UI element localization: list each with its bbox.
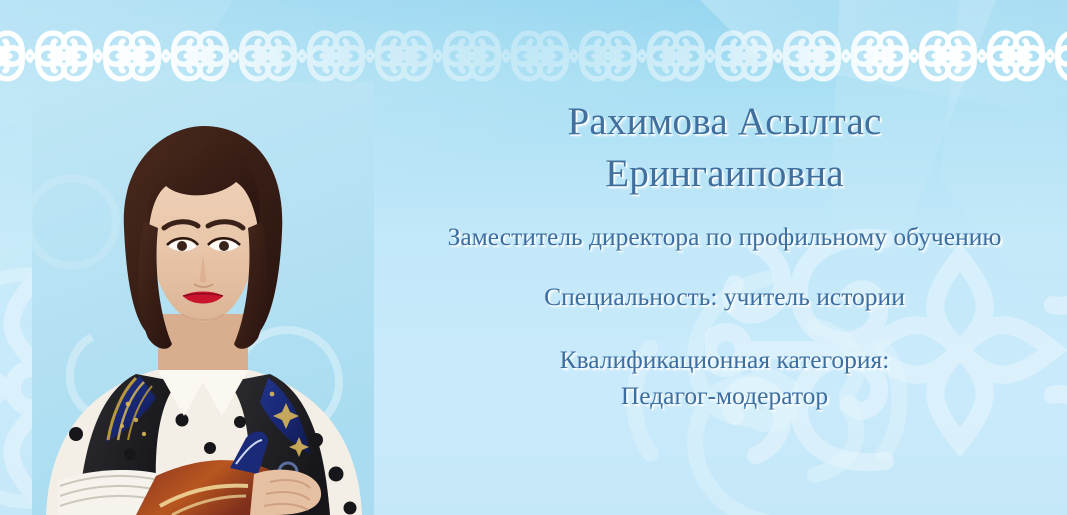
kazakh-ornament-border <box>0 26 1067 86</box>
qualification-label: Квалификационная категория: <box>560 345 890 374</box>
portrait-photo <box>32 82 374 515</box>
person-name-line2: Ерингаиповна <box>382 148 1067 200</box>
person-specialty: Специальность: учитель истории <box>382 280 1067 314</box>
presentation-slide: Рахимова Асылтас Ерингаиповна Заместител… <box>0 0 1067 515</box>
person-qualification: Квалификационная категория: Педагог-моде… <box>382 342 1067 414</box>
portrait-illustration <box>32 82 374 515</box>
person-name-line1: Рахимова Асылтас <box>567 100 881 143</box>
qualification-value: Педагог-модератор <box>382 378 1067 414</box>
person-role: Заместитель директора по профильному обу… <box>382 220 1067 254</box>
person-name: Рахимова Асылтас Ерингаиповна <box>382 96 1067 200</box>
info-text-block: Рахимова Асылтас Ерингаиповна Заместител… <box>382 96 1067 414</box>
